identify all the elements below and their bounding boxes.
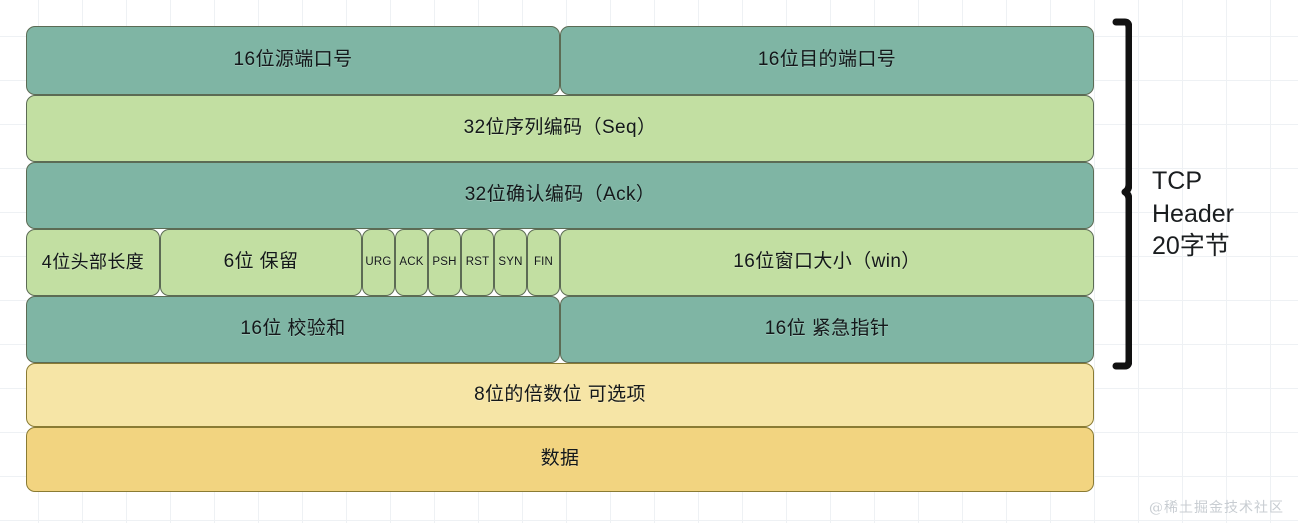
flag-syn: SYN [494, 229, 527, 296]
tcp-header-label: TCP Header 20字节 [1152, 165, 1272, 263]
flag-psh: PSH [428, 229, 461, 296]
field-source-port: 16位源端口号 [26, 26, 560, 95]
flag-fin: FIN [527, 229, 560, 296]
field-sequence-number: 32位序列编码（Seq） [26, 95, 1094, 162]
watermark: @稀土掘金技术社区 [1149, 497, 1284, 517]
row-acknowledgement-number: 32位确认编码（Ack） [26, 162, 1094, 229]
row-options: 8位的倍数位 可选项 [26, 363, 1094, 427]
field-options: 8位的倍数位 可选项 [26, 363, 1094, 427]
flag-rst: RST [461, 229, 494, 296]
field-urgent-pointer: 16位 紧急指针 [560, 296, 1094, 363]
row-data: 数据 [26, 427, 1094, 492]
field-data: 数据 [26, 427, 1094, 492]
row-checksum-urgent-pointer: 16位 校验和 16位 紧急指针 [26, 296, 1094, 363]
field-acknowledgement-number: 32位确认编码（Ack） [26, 162, 1094, 229]
field-checksum: 16位 校验和 [26, 296, 560, 363]
tcp-header-brace [1106, 18, 1132, 370]
field-data-offset: 4位头部长度 [26, 229, 160, 296]
row-offset-reserved-flags-window: 4位头部长度 6位 保留 URG ACK PSH RST SYN FIN 16位… [26, 229, 1094, 296]
tcp-header-diagram: 16位源端口号 16位目的端口号 32位序列编码（Seq） 32位确认编码（Ac… [26, 26, 1094, 492]
flag-ack: ACK [395, 229, 428, 296]
field-destination-port: 16位目的端口号 [560, 26, 1094, 95]
field-window-size: 16位窗口大小（win） [560, 229, 1094, 296]
field-reserved: 6位 保留 [160, 229, 362, 296]
row-ports: 16位源端口号 16位目的端口号 [26, 26, 1094, 95]
row-sequence-number: 32位序列编码（Seq） [26, 95, 1094, 162]
flag-urg: URG [362, 229, 395, 296]
